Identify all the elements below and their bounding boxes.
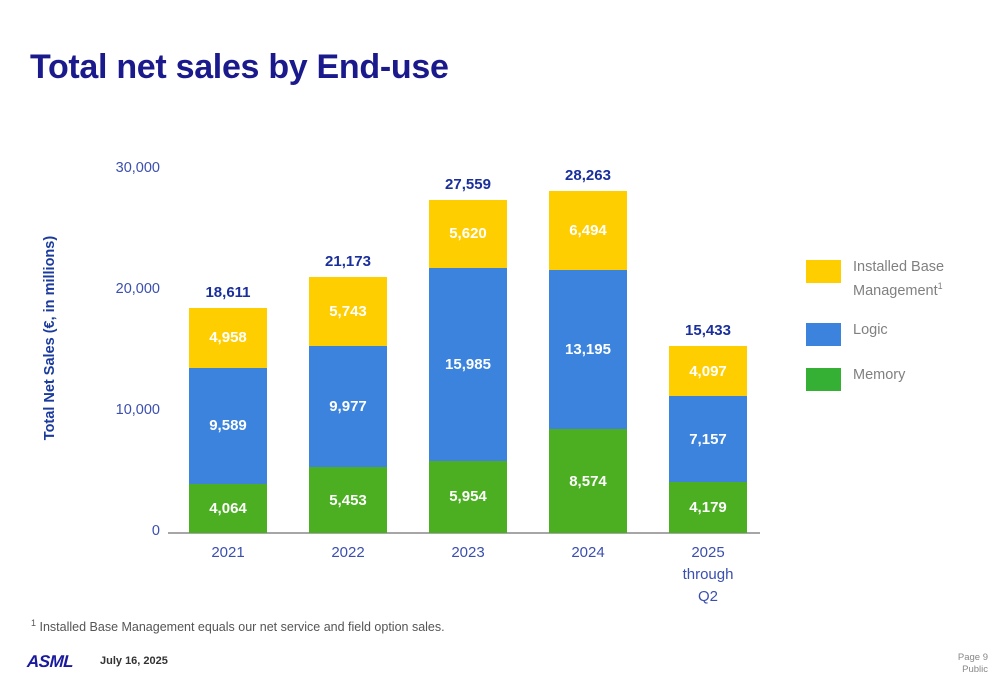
- bar-group[interactable]: 4,0977,1574,17915,433: [669, 346, 747, 533]
- bar-total-label: 21,173: [295, 253, 401, 270]
- x-axis-tick-line: 2021: [173, 542, 283, 564]
- classification-label: Public: [958, 664, 988, 676]
- bar-segment[interactable]: 5,620: [429, 200, 507, 268]
- bar-segment[interactable]: 8,574: [549, 429, 627, 533]
- x-axis-tick-line: 2023: [413, 542, 523, 564]
- bar-segment[interactable]: 5,954: [429, 461, 507, 533]
- bar-group[interactable]: 5,7439,9775,45321,173: [309, 277, 387, 533]
- bar-segment-value: 5,620: [449, 225, 487, 242]
- legend-color-swatch: [806, 260, 841, 283]
- x-axis-tick: 2023: [413, 542, 523, 564]
- legend-item-label: Logic: [853, 321, 888, 340]
- x-axis-tick-line: Q2: [653, 586, 763, 608]
- legend-item[interactable]: Logic: [806, 321, 986, 346]
- bar-group[interactable]: 6,49413,1958,57428,263: [549, 191, 627, 533]
- bar-segment[interactable]: 4,179: [669, 482, 747, 533]
- legend-item-label: Installed Base Management1: [853, 258, 986, 301]
- bar-segment-value: 6,494: [569, 222, 607, 239]
- bar-segment-value: 4,097: [689, 363, 727, 380]
- y-axis-tick: 0: [0, 523, 160, 539]
- bar-total-label: 15,433: [655, 322, 761, 339]
- bar-segment[interactable]: 4,064: [189, 484, 267, 533]
- legend-color-swatch: [806, 368, 841, 391]
- y-axis-title: Total Net Sales (€, in millions): [42, 213, 58, 463]
- bar-segment-value: 13,195: [565, 341, 611, 358]
- bar-segment-value: 8,574: [569, 473, 607, 490]
- asml-logo: ASML: [26, 652, 73, 672]
- x-axis-tick: 2025throughQ2: [653, 542, 763, 608]
- plot-area: 4,9589,5894,06418,6115,7439,9775,45321,1…: [168, 170, 768, 533]
- y-axis-tick: 30,000: [0, 160, 160, 176]
- x-axis-tick: 2021: [173, 542, 283, 564]
- bar-group[interactable]: 4,9589,5894,06418,611: [189, 308, 267, 533]
- x-axis-tick-line: 2024: [533, 542, 643, 564]
- bar-total-label: 27,559: [415, 176, 521, 193]
- x-axis-tick-line: 2022: [293, 542, 403, 564]
- y-axis-tick: 20,000: [0, 281, 160, 297]
- bar-segment-value: 15,985: [445, 356, 491, 373]
- bar-segment[interactable]: 7,157: [669, 396, 747, 483]
- bar-segment[interactable]: 4,097: [669, 346, 747, 396]
- y-axis-tick: 10,000: [0, 402, 160, 418]
- bar-segment[interactable]: 9,589: [189, 368, 267, 484]
- legend-item[interactable]: Installed Base Management1: [806, 258, 986, 301]
- footnote-marker: 1: [31, 618, 36, 628]
- bar-segment-value: 5,453: [329, 492, 367, 509]
- legend-color-swatch: [806, 323, 841, 346]
- page-number: Page 9: [958, 652, 988, 664]
- bar-group[interactable]: 5,62015,9855,95427,559: [429, 200, 507, 533]
- footnote: 1 Installed Base Management equals our n…: [31, 618, 445, 634]
- legend-item[interactable]: Memory: [806, 366, 986, 391]
- bar-segment-value: 9,977: [329, 398, 367, 415]
- bar-total-label: 28,263: [535, 167, 641, 184]
- legend-footnote-marker: 1: [938, 281, 943, 291]
- x-axis-tick: 2024: [533, 542, 643, 564]
- bar-segment[interactable]: 5,743: [309, 277, 387, 346]
- footnote-text: Installed Base Management equals our net…: [40, 620, 445, 634]
- bar-segment-value: 7,157: [689, 431, 727, 448]
- x-axis-tick-line: 2025: [653, 542, 763, 564]
- bar-segment[interactable]: 4,958: [189, 308, 267, 368]
- bar-segment[interactable]: 6,494: [549, 191, 627, 270]
- footer-date: July 16, 2025: [100, 655, 168, 667]
- x-axis-tick: 2022: [293, 542, 403, 564]
- bar-segment-value: 4,179: [689, 499, 727, 516]
- bar-segment-value: 4,958: [209, 329, 247, 346]
- bar-segment-value: 5,743: [329, 303, 367, 320]
- chart-legend: Installed Base Management1LogicMemory: [806, 258, 986, 411]
- bar-segment-value: 5,954: [449, 488, 487, 505]
- bar-segment[interactable]: 15,985: [429, 268, 507, 461]
- bar-segment-value: 9,589: [209, 417, 247, 434]
- bar-segment[interactable]: 9,977: [309, 346, 387, 467]
- bar-segment-value: 4,064: [209, 500, 247, 517]
- bar-total-label: 18,611: [175, 284, 281, 301]
- bar-segment[interactable]: 13,195: [549, 270, 627, 430]
- footer-meta: Page 9 Public: [958, 652, 988, 676]
- bar-segment[interactable]: 5,453: [309, 467, 387, 533]
- x-axis-tick-line: through: [653, 564, 763, 586]
- legend-item-label: Memory: [853, 366, 905, 385]
